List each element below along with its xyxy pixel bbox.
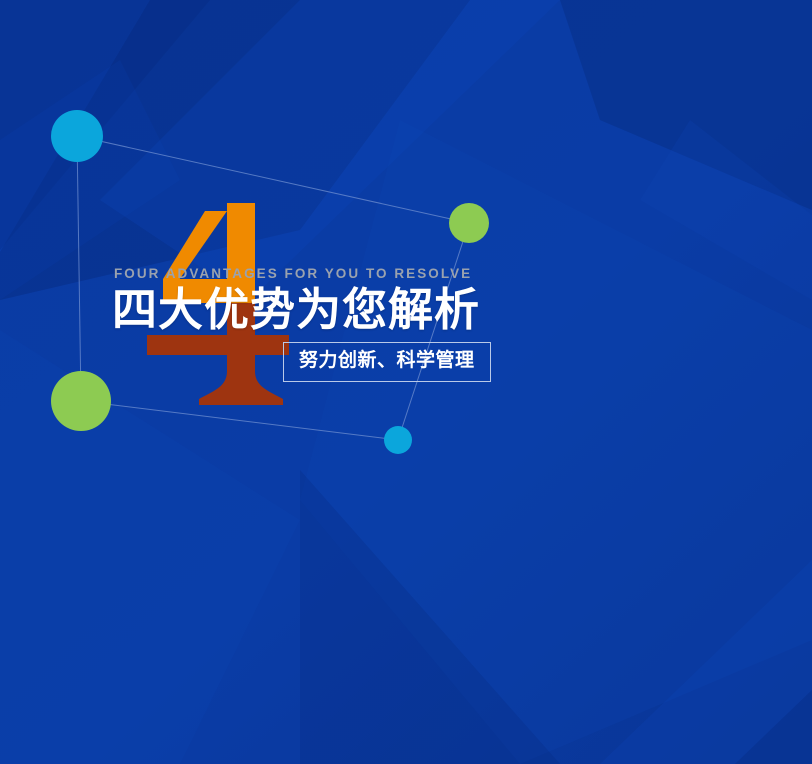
banner-tagline-row: 努力创新、科学管理 <box>113 342 733 382</box>
banner-headline: 四大优势为您解析 <box>112 285 733 335</box>
banner-tagline-box: 努力创新、科学管理 <box>283 342 491 382</box>
banner-stage: FOUR ADVANTAGES FOR YOU TO RESOLVE 四大优势为… <box>0 0 812 764</box>
banner-text-block: FOUR ADVANTAGES FOR YOU TO RESOLVE 四大优势为… <box>113 266 733 382</box>
background-facets <box>0 0 812 764</box>
banner-eyebrow-text: FOUR ADVANTAGES FOR YOU TO RESOLVE <box>114 266 733 282</box>
